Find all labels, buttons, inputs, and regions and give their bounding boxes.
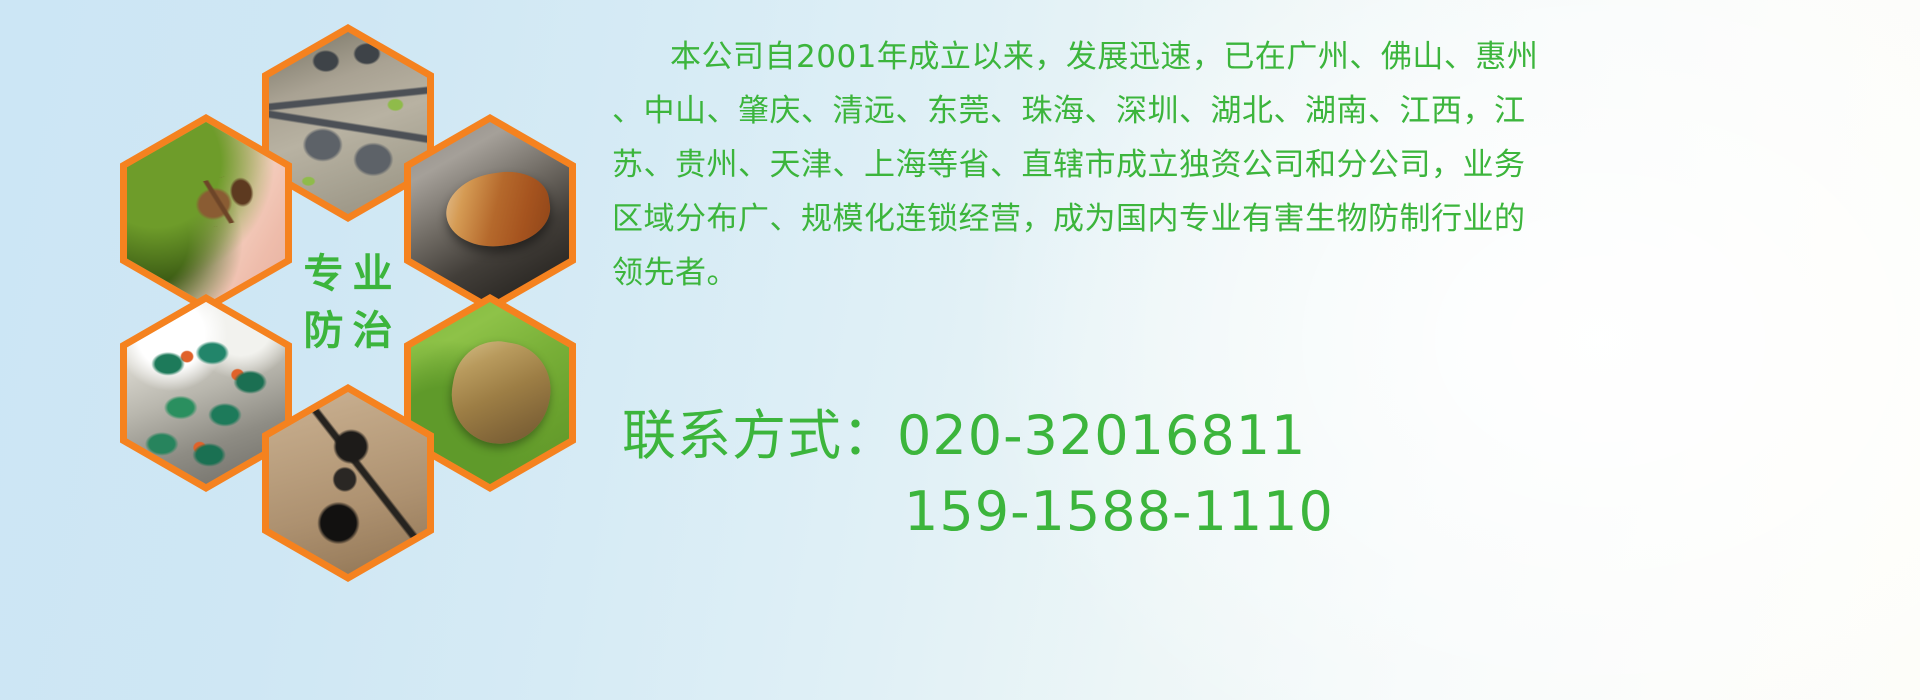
collage-tile-stinkbug-image: [411, 302, 569, 484]
about-text-block: 本公司自2001年成立以来，发展迅速，已在广州、佛山、惠州 、中山、肇庆、清远、…: [612, 30, 1912, 300]
collage-tile-ant-image: [269, 392, 427, 574]
contact-block: 联系方式：020-32016811 159-1588-1110: [622, 398, 1920, 550]
promo-banner: 专业 防治 本公司自2001年成立以来，发展迅速，已在广州、佛山、惠州 、中山、…: [0, 0, 1920, 700]
collage-tile-flies-image: [127, 302, 285, 484]
flies-photo: [127, 302, 285, 484]
stinkbug-photo: [411, 302, 569, 484]
contact-landline[interactable]: 联系方式：020-32016811: [622, 398, 1920, 474]
about-line-3: 苏、贵州、天津、上海等省、直辖市成立独资公司和分公司，业务: [612, 138, 1912, 192]
cockroach-photo: [411, 122, 569, 304]
about-line-1: 本公司自2001年成立以来，发展迅速，已在广州、佛山、惠州: [612, 30, 1912, 84]
collage-tile-mosquito-image: [127, 122, 285, 304]
contact-mobile[interactable]: 159-1588-1110: [622, 474, 1920, 550]
collage-tile-cockroach-image: [411, 122, 569, 304]
mosquito-photo: [127, 122, 285, 304]
about-line-5: 领先者。: [612, 246, 1912, 300]
slogan-line-1: 专业: [295, 246, 402, 303]
slogan-line-2: 防治: [295, 303, 402, 360]
ant-photo: [269, 392, 427, 574]
rats-photo: [269, 32, 427, 214]
about-paragraph: 本公司自2001年成立以来，发展迅速，已在广州、佛山、惠州 、中山、肇庆、清远、…: [612, 30, 1912, 300]
collage-tile-rats-image: [269, 32, 427, 214]
about-line-4: 区域分布广、规模化连锁经营，成为国内专业有害生物防制行业的: [612, 192, 1912, 246]
honeycomb-collage: 专业 防治: [96, 8, 596, 568]
about-line-2: 、中山、肇庆、清远、东莞、珠海、深圳、湖北、湖南、江西，江: [612, 84, 1912, 138]
